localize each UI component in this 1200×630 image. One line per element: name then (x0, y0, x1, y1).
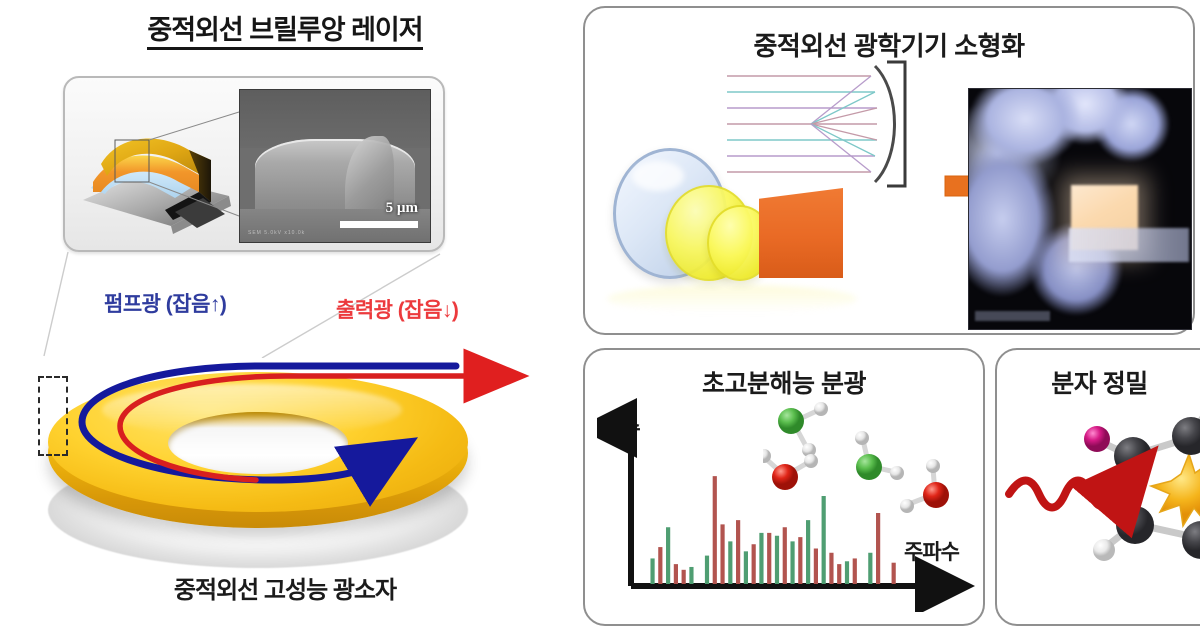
microring-resonator (10, 330, 530, 565)
atom-hydrogen (1093, 539, 1115, 561)
optics-reflection (607, 285, 857, 313)
panel-miniaturization: 중적외선 광학기기 소형화 (583, 6, 1195, 335)
panel-miniaturization-title: 중적외선 광학기기 소형화 (585, 26, 1193, 63)
orange-prism (759, 188, 843, 278)
page-title: 중적외선 브릴루앙 레이저 (0, 8, 570, 47)
optics-illustration (607, 60, 937, 315)
panel-spectroscopy-title: 초고분해능 분광 (585, 364, 983, 400)
photo-watermark (1069, 228, 1189, 262)
molecule-green-2 (855, 431, 904, 480)
photo-credit (975, 311, 1050, 321)
molecular-structure-illustration (1005, 398, 1200, 618)
pump-light-label: 펌프광 (잡음↑) (104, 288, 226, 318)
water-molecule-icons (763, 400, 975, 525)
curved-mirror-raytrace (725, 60, 935, 200)
atom-carbon (1114, 437, 1152, 475)
infographic-root: 중적외선 브릴루앙 레이저 (0, 0, 1200, 630)
light-path-arrows (10, 330, 530, 565)
zoom-region-box (38, 376, 68, 456)
gloved-hand-chip-photo (968, 88, 1192, 330)
waveguide-3d-illustration (79, 92, 249, 240)
molecule-green-1 (778, 402, 828, 457)
interaction-starburst-icon (1151, 454, 1200, 526)
left-section: 중적외선 브릴루앙 레이저 (0, 0, 570, 630)
left-caption: 중적외선 고성능 광소자 (0, 570, 570, 605)
molecule-red-2 (900, 459, 949, 513)
page-title-text: 중적외선 브릴루앙 레이저 (147, 15, 422, 50)
laser-wave-arrow (1009, 481, 1117, 508)
atom-carbon (1116, 506, 1154, 544)
panel-molecular-precision: 분자 정밀 (995, 348, 1200, 626)
sem-metadata-text: SEM 5.0kV x10.0k (248, 230, 305, 236)
panel-spectroscopy: 초고분해능 분광 흡수 주파수 (583, 348, 985, 626)
sem-scale-bar (340, 221, 418, 228)
output-light-label: 출력광 (잡음↓) (336, 294, 458, 324)
sem-micrograph: SEM 5.0kV x10.0k 5 µm (239, 89, 431, 243)
atom-pink (1084, 426, 1110, 452)
atom-carbon (1182, 521, 1200, 559)
molecule-red-1 (763, 449, 818, 490)
sem-scale-label: 5 µm (386, 200, 418, 217)
atom-carbon (1172, 417, 1200, 455)
panel-molecular-precision-title: 분자 정밀 (997, 364, 1200, 400)
device-card: SEM 5.0kV x10.0k 5 µm (63, 76, 445, 252)
